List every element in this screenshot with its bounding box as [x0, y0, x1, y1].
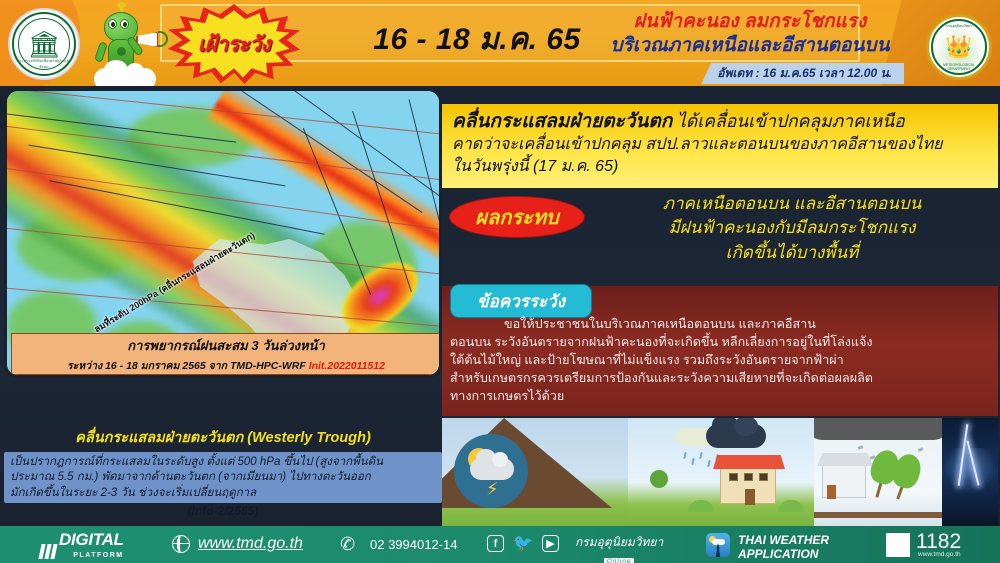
house-roof — [817, 453, 873, 466]
mascot-chest-badge — [117, 47, 126, 56]
qr-code[interactable] — [886, 533, 910, 557]
thai-weather-app-icon[interactable] — [706, 533, 730, 557]
impact-pill-label: ผลกระทบ — [475, 201, 558, 233]
trough-title: คลื่นกระแสลมฝ่ายตะวันตก (Westerly Trough… — [4, 424, 442, 449]
lead-line-1: คลื่นกระแสลมฝ่ายตะวันตก ได้เคลื่อนเข้าปก… — [452, 109, 990, 134]
impact-line-2: มีฝนฟ้าคะนองกับมีลมกระโชกแรง — [592, 216, 992, 240]
debris-shape — [918, 447, 924, 452]
caution-line-1: ขอให้ประชาชนในบริเวณภาคเหนือตอนบน และภาค… — [450, 316, 992, 334]
lead-summary-panel: คลื่นกระแสลมฝ่ายตะวันตก ได้เคลื่อนเข้าปก… — [442, 104, 998, 188]
mascot-arm-left — [94, 41, 108, 62]
twitter-icon[interactable]: 🐦 — [513, 536, 533, 552]
impact-text-block: ภาคเหนือตอนบน และอีสานตอนบน มีฝนฟ้าคะนอง… — [592, 192, 992, 265]
lead-bold-phrase: คลื่นกระแสลมฝ่ายตะวันตก — [452, 111, 672, 132]
raindrop-icon — [707, 460, 710, 467]
social-links: f 🐦 ▶ — [487, 535, 559, 552]
hotline-website: www.tmd.go.th — [918, 551, 961, 558]
cloud-shape — [94, 68, 156, 88]
tmd-seal-caption-th: กรมอุตุนิยมวิทยา — [933, 23, 985, 29]
map-caption-title: การพยากรณ์ฝนสะสม 3 วันล่วงหน้า — [127, 335, 325, 356]
raindrop-icon — [691, 458, 694, 465]
alert-starburst-badge: เฝ้าระวัง — [168, 4, 300, 84]
trough-description: เป็นปรากฎการณ์ที่กระแสลมในระดับสูง ตั้งแ… — [4, 452, 442, 503]
app-cloud-icon — [712, 539, 725, 545]
digital-platform-subtitle: PLATFORM — [59, 552, 124, 559]
tmd-seal-logo: กรมอุตุนิยมวิทยา 👑 METEOROLOGICAL DEPART… — [926, 14, 992, 80]
facebook-icon[interactable]: f — [487, 535, 504, 552]
caution-line-4: สำหรับเกษตรกรควรเตรียมการป้องกันและระวัง… — [450, 370, 992, 388]
map-caption-init-code: Init.2022011512 — [309, 360, 385, 372]
map-caption-range: ระหว่าง 16 - 18 มกราคม 2565 จาก TMD-HPC-… — [67, 360, 309, 372]
mascot-pupil-left — [111, 22, 115, 27]
digital-platform-bars-icon — [40, 544, 56, 559]
infographic-root: 🏛 กระทรวงดิจิทัลเพื่อเศรษฐกิจและสังคม — [0, 0, 1000, 563]
map-caption-subtitle: ระหว่าง 16 - 18 มกราคม 2565 จาก TMD-HPC-… — [67, 357, 385, 374]
phone-number: 02 3994012-14 — [370, 537, 457, 552]
digital-platform-logo: DIGITAL PLATFORM — [40, 531, 124, 559]
trough-info-code: (Info-2/2565) — [4, 504, 442, 518]
house-illustration — [720, 466, 776, 504]
cloud-icon — [470, 458, 514, 480]
weather-forecast-map[interactable]: ลมที่ระดับ 200hPa (คลื่นกระแสลมฝ่ายตะวัน… — [4, 88, 442, 378]
lead-line1-rest: ได้เคลื่อนเข้าปกคลุมภาคเหนือ — [672, 111, 904, 131]
trough-line-2: ประมาณ 5.5 กม.) พัดมาจากด้านตะวันตก (จาก… — [10, 470, 436, 485]
impact-line-1: ภาคเหนือตอนบน และอีสานตอนบน — [592, 192, 992, 216]
header-title-line2: บริเวณภาคเหนือและอีสานตอนบน — [600, 34, 900, 58]
bush-shape — [688, 500, 714, 512]
digital-platform-wordmark: DIGITAL — [59, 530, 124, 549]
mascot-pupil-right — [123, 22, 127, 27]
photo-rain-house-scene — [628, 418, 814, 526]
impact-pill-badge: ผลกระทบ — [449, 196, 585, 238]
globe-icon — [172, 535, 190, 553]
phone-icon: ✆ — [339, 533, 357, 556]
house-window — [759, 473, 768, 481]
header-bar: 🏛 กระทรวงดิจิทัลเพื่อเศรษฐกิจและสังคม — [0, 0, 1000, 88]
footer-bar: DIGITAL PLATFORM www.tmd.go.th ✆ 02 3994… — [0, 526, 1000, 563]
house-illustration — [822, 464, 866, 498]
debris-shape — [858, 445, 864, 450]
caution-pill-badge: ข้อควรระวัง — [450, 284, 592, 318]
youtube-icon[interactable]: ▶ — [542, 535, 559, 552]
lead-line-3: ในวันพรุ่งนี้ (17 ม.ค. 65) — [452, 156, 990, 177]
caution-line-5: ทางการเกษตรไว้ด้วย — [450, 388, 992, 406]
caution-text-block: ขอให้ประชาชนในบริเวณภาคเหนือตอนบน และภาค… — [450, 316, 992, 405]
app-name-line2: APPLICATION — [738, 547, 818, 561]
tree-shape — [650, 470, 668, 488]
map-caption-box: การพยากรณ์ฝนสะสม 3 วันล่วงหน้า ระหว่าง 1… — [11, 333, 441, 375]
westerly-trough-explainer: คลื่นกระแสลมฝ่ายตะวันตก (Westerly Trough… — [4, 424, 442, 522]
impact-line-3: เกิดขึ้นได้บางพื้นที่ — [592, 241, 992, 265]
storm-cloud-icon — [706, 424, 766, 448]
header-title-block: ฝนฟ้าคะนอง ลมกระโชกแรง บริเวณภาคเหนือและ… — [600, 10, 900, 58]
thunderstorm-icon — [454, 434, 528, 508]
impact-section: ผลกระทบ ภาคเหนือตอนบน และอีสานตอนบน มีฝน… — [442, 192, 998, 284]
caution-pill-label: ข้อควรระวัง — [477, 288, 565, 315]
app-name-block: THAI WEATHER APPLICATION — [738, 533, 829, 561]
storm-cloud-icon — [814, 418, 942, 440]
website-link[interactable]: www.tmd.go.th — [198, 535, 303, 553]
raindrop-icon — [683, 452, 686, 459]
header-date-range: 16 - 18 ม.ค. 65 — [352, 16, 602, 63]
house-roof — [713, 455, 785, 469]
photo-thunderstorm-icon-scene — [442, 418, 628, 526]
app-name-line1: THAI WEATHER — [738, 533, 829, 547]
photo-windstorm-scene — [814, 418, 942, 526]
trough-line-1: เป็นปรากฎการณ์ที่กระแสลมในระดับสูง ตั้งแ… — [10, 455, 436, 470]
house-door — [745, 489, 755, 505]
house-window — [744, 473, 753, 481]
ministry-seal-caption: กระทรวงดิจิทัลเพื่อเศรษฐกิจและสังคม — [14, 58, 74, 70]
department-name: กรมอุตุนิยมวิทยา — [575, 535, 663, 549]
alert-badge-label: เฝ้าระวัง — [198, 28, 270, 61]
hotline-number: 1182 — [916, 531, 961, 552]
lead-line-2: คาดว่าจะเคลื่อนเข้าปกคลุม สปป.ลาวและตอนบ… — [452, 134, 990, 155]
app-temple-icon — [714, 543, 722, 557]
bush-shape — [778, 500, 804, 512]
weather-photo-strip — [442, 418, 998, 526]
ground-strip — [814, 512, 942, 518]
tmd-seal-caption-en: METEOROLOGICAL DEPARTMENT — [933, 63, 985, 71]
ministry-seal-glyph: 🏛 — [27, 31, 60, 57]
house-window — [729, 473, 738, 481]
update-timestamp-badge: อัพเดท : 16 ม.ค.65 เวลา 12.00 น. — [701, 63, 904, 84]
photo-lightning-scene — [942, 418, 998, 526]
ministry-seal-logo: 🏛 กระทรวงดิจิทัลเพื่อเศรษฐกิจและสังคม — [8, 8, 80, 80]
caution-section: ข้อควรระวัง ขอให้ประชาชนในบริเวณภาคเหนือ… — [442, 286, 998, 416]
header-title-line1: ฝนฟ้าคะนอง ลมกระโชกแรง — [600, 10, 900, 34]
caution-line-2: ตอนบน ระวังอันตรายจากฝนฟ้าคะนองที่จะเกิด… — [450, 334, 992, 352]
tmd-seal-glyph: 👑 — [945, 36, 972, 58]
department-online-badge: Online — [604, 558, 635, 563]
department-name-block: กรมอุตุนิยมวิทยา Online — [575, 533, 663, 563]
caution-line-3: ใต้ต้นไม้ใหญ่ และป้ายโฆษณาที่ไม่แข็งแรง … — [450, 352, 992, 370]
house-door — [827, 485, 836, 499]
raindrop-icon — [699, 452, 702, 459]
trough-line-3: มักเกิดขึ้นในระยะ 2-3 วัน ช่วงจะเริ่มเปล… — [10, 486, 436, 501]
mascot-character — [88, 6, 160, 88]
